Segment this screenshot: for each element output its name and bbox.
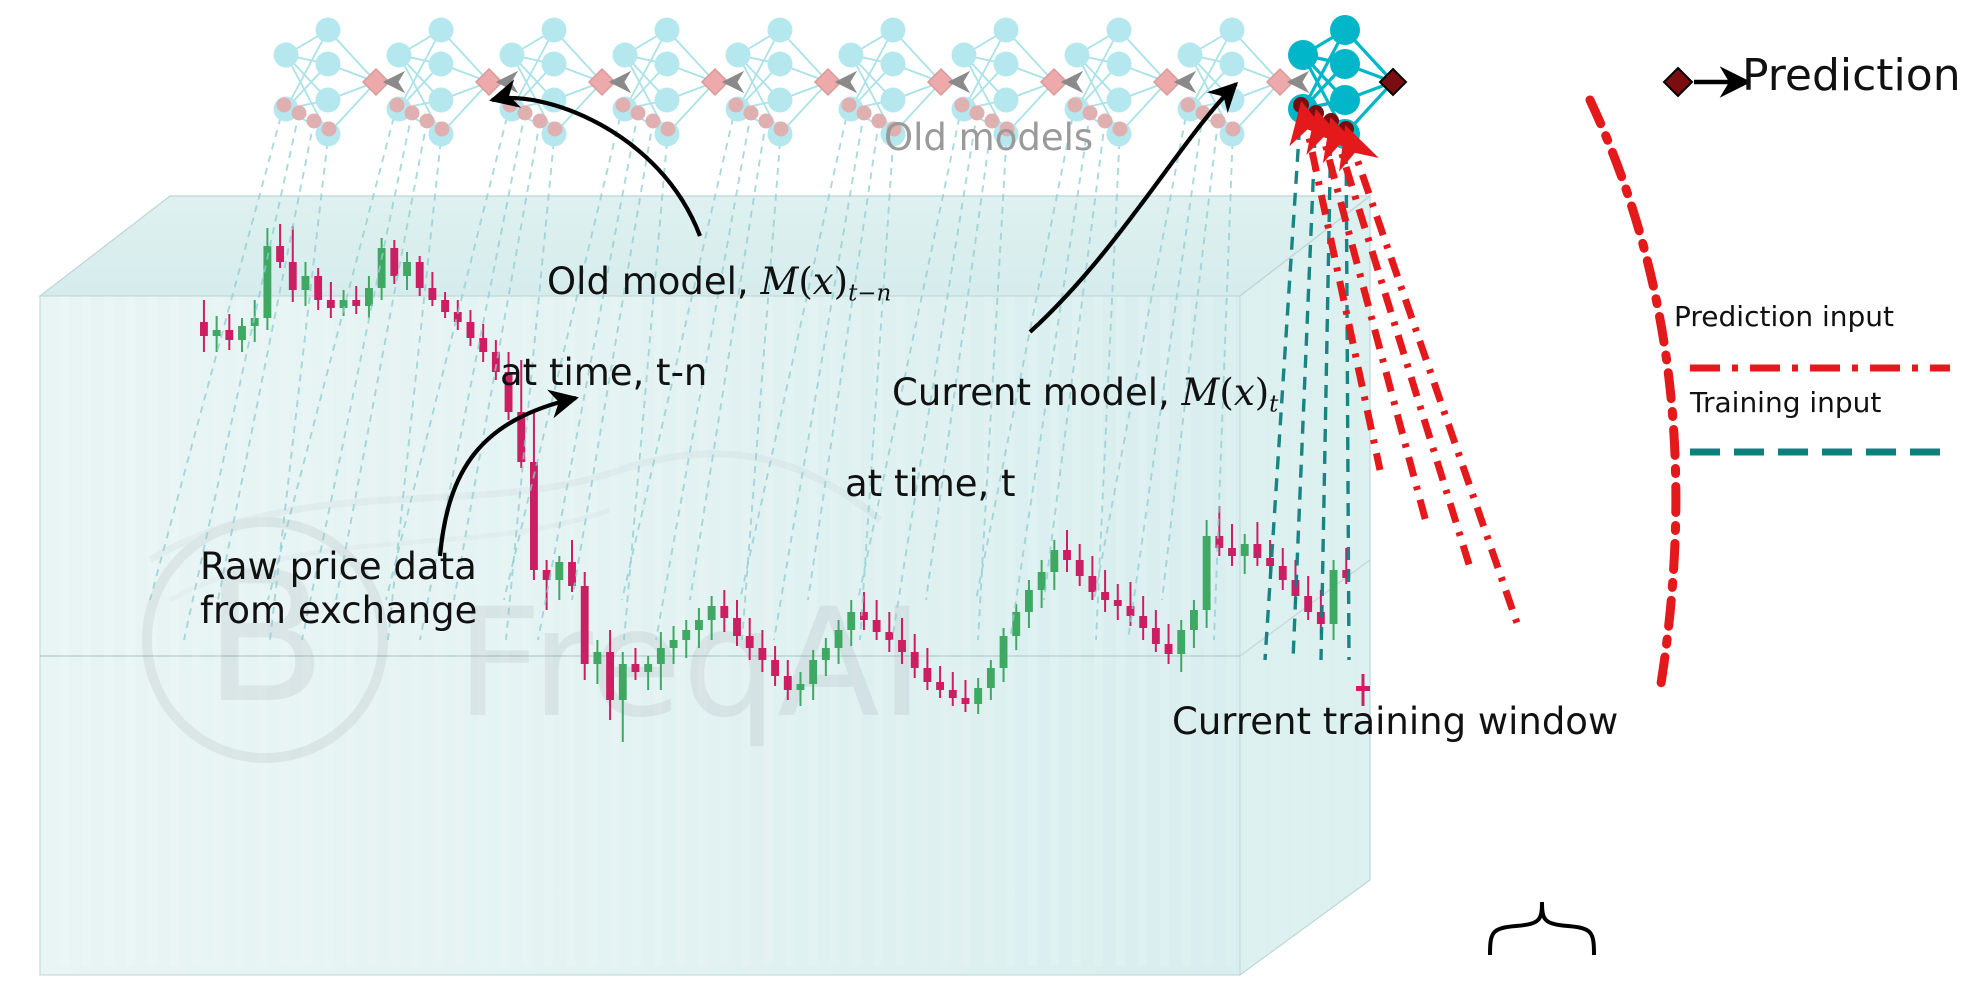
old-input-node — [744, 106, 759, 121]
old-input-node — [307, 114, 322, 129]
prediction-output-arrow — [1664, 68, 1748, 96]
old-model-text: Old model, — [547, 260, 760, 303]
svg-text:FreqAI: FreqAI — [456, 577, 924, 751]
old-input-node — [955, 98, 970, 113]
old-input-node — [616, 98, 631, 113]
old-input-node — [548, 122, 563, 137]
training-window-brace — [1490, 902, 1594, 955]
old-input-node — [1226, 122, 1241, 137]
old-model-annotation: Old model, M(x)t−n at time, t-n — [500, 216, 891, 394]
current-model-math-open: ( — [1219, 371, 1233, 414]
old-input-node — [292, 106, 307, 121]
current-model-math-M: M — [1182, 371, 1220, 414]
old-input-node — [1068, 98, 1083, 113]
old-model-math-close: ) — [834, 260, 848, 303]
old-input-node — [759, 114, 774, 129]
old-input-node — [533, 114, 548, 129]
old-input-node — [661, 122, 676, 137]
current-model-math-x: x — [1234, 371, 1255, 414]
prediction-curve — [1590, 100, 1676, 690]
old-model-math-x: x — [813, 260, 834, 303]
current-model-math-close: ) — [1255, 371, 1269, 414]
current-model-time: at time, t — [845, 462, 1278, 506]
old-input-node — [435, 122, 450, 137]
old-model-math-M: M — [760, 260, 798, 303]
old-input-node — [1098, 114, 1113, 129]
current-training-window-label: Current training window — [1172, 700, 1618, 744]
legend-label-training-input: Training input — [1690, 386, 1881, 419]
old-input-node — [1211, 114, 1226, 129]
old-models-label: Old models — [884, 116, 1093, 160]
old-input-node — [646, 114, 661, 129]
old-input-node — [842, 98, 857, 113]
raw-price-line-1: Raw price data — [200, 545, 477, 589]
current-model-math-sub: t — [1269, 391, 1278, 417]
old-input-node — [631, 106, 646, 121]
old-model-math-sub: t−n — [848, 280, 891, 306]
old-input-node — [390, 98, 405, 113]
old-input-node — [729, 98, 744, 113]
old-input-node — [420, 114, 435, 129]
current-model-annotation: Current model, M(x)t at time, t — [845, 327, 1278, 505]
old-model-math-open: ( — [798, 260, 812, 303]
old-input-node — [1113, 122, 1128, 137]
old-input-node — [518, 106, 533, 121]
raw-price-annotation: Raw price data from exchange — [200, 545, 477, 632]
prediction-input-line — [1348, 133, 1518, 626]
prediction-label: Prediction — [1742, 50, 1961, 102]
old-input-node — [1181, 98, 1196, 113]
old-input-node — [857, 106, 872, 121]
current-model-text: Current model, — [892, 371, 1181, 414]
old-input-node — [774, 122, 789, 137]
old-input-node — [322, 122, 337, 137]
old-model-time: at time, t-n — [500, 351, 891, 395]
figure-root: B FreqAI Old models Prediction Old model — [0, 0, 1966, 981]
legend-label-prediction-input: Prediction input — [1674, 300, 1894, 333]
old-input-node — [405, 106, 420, 121]
raw-price-line-2: from exchange — [200, 589, 477, 633]
old-input-node — [277, 98, 292, 113]
